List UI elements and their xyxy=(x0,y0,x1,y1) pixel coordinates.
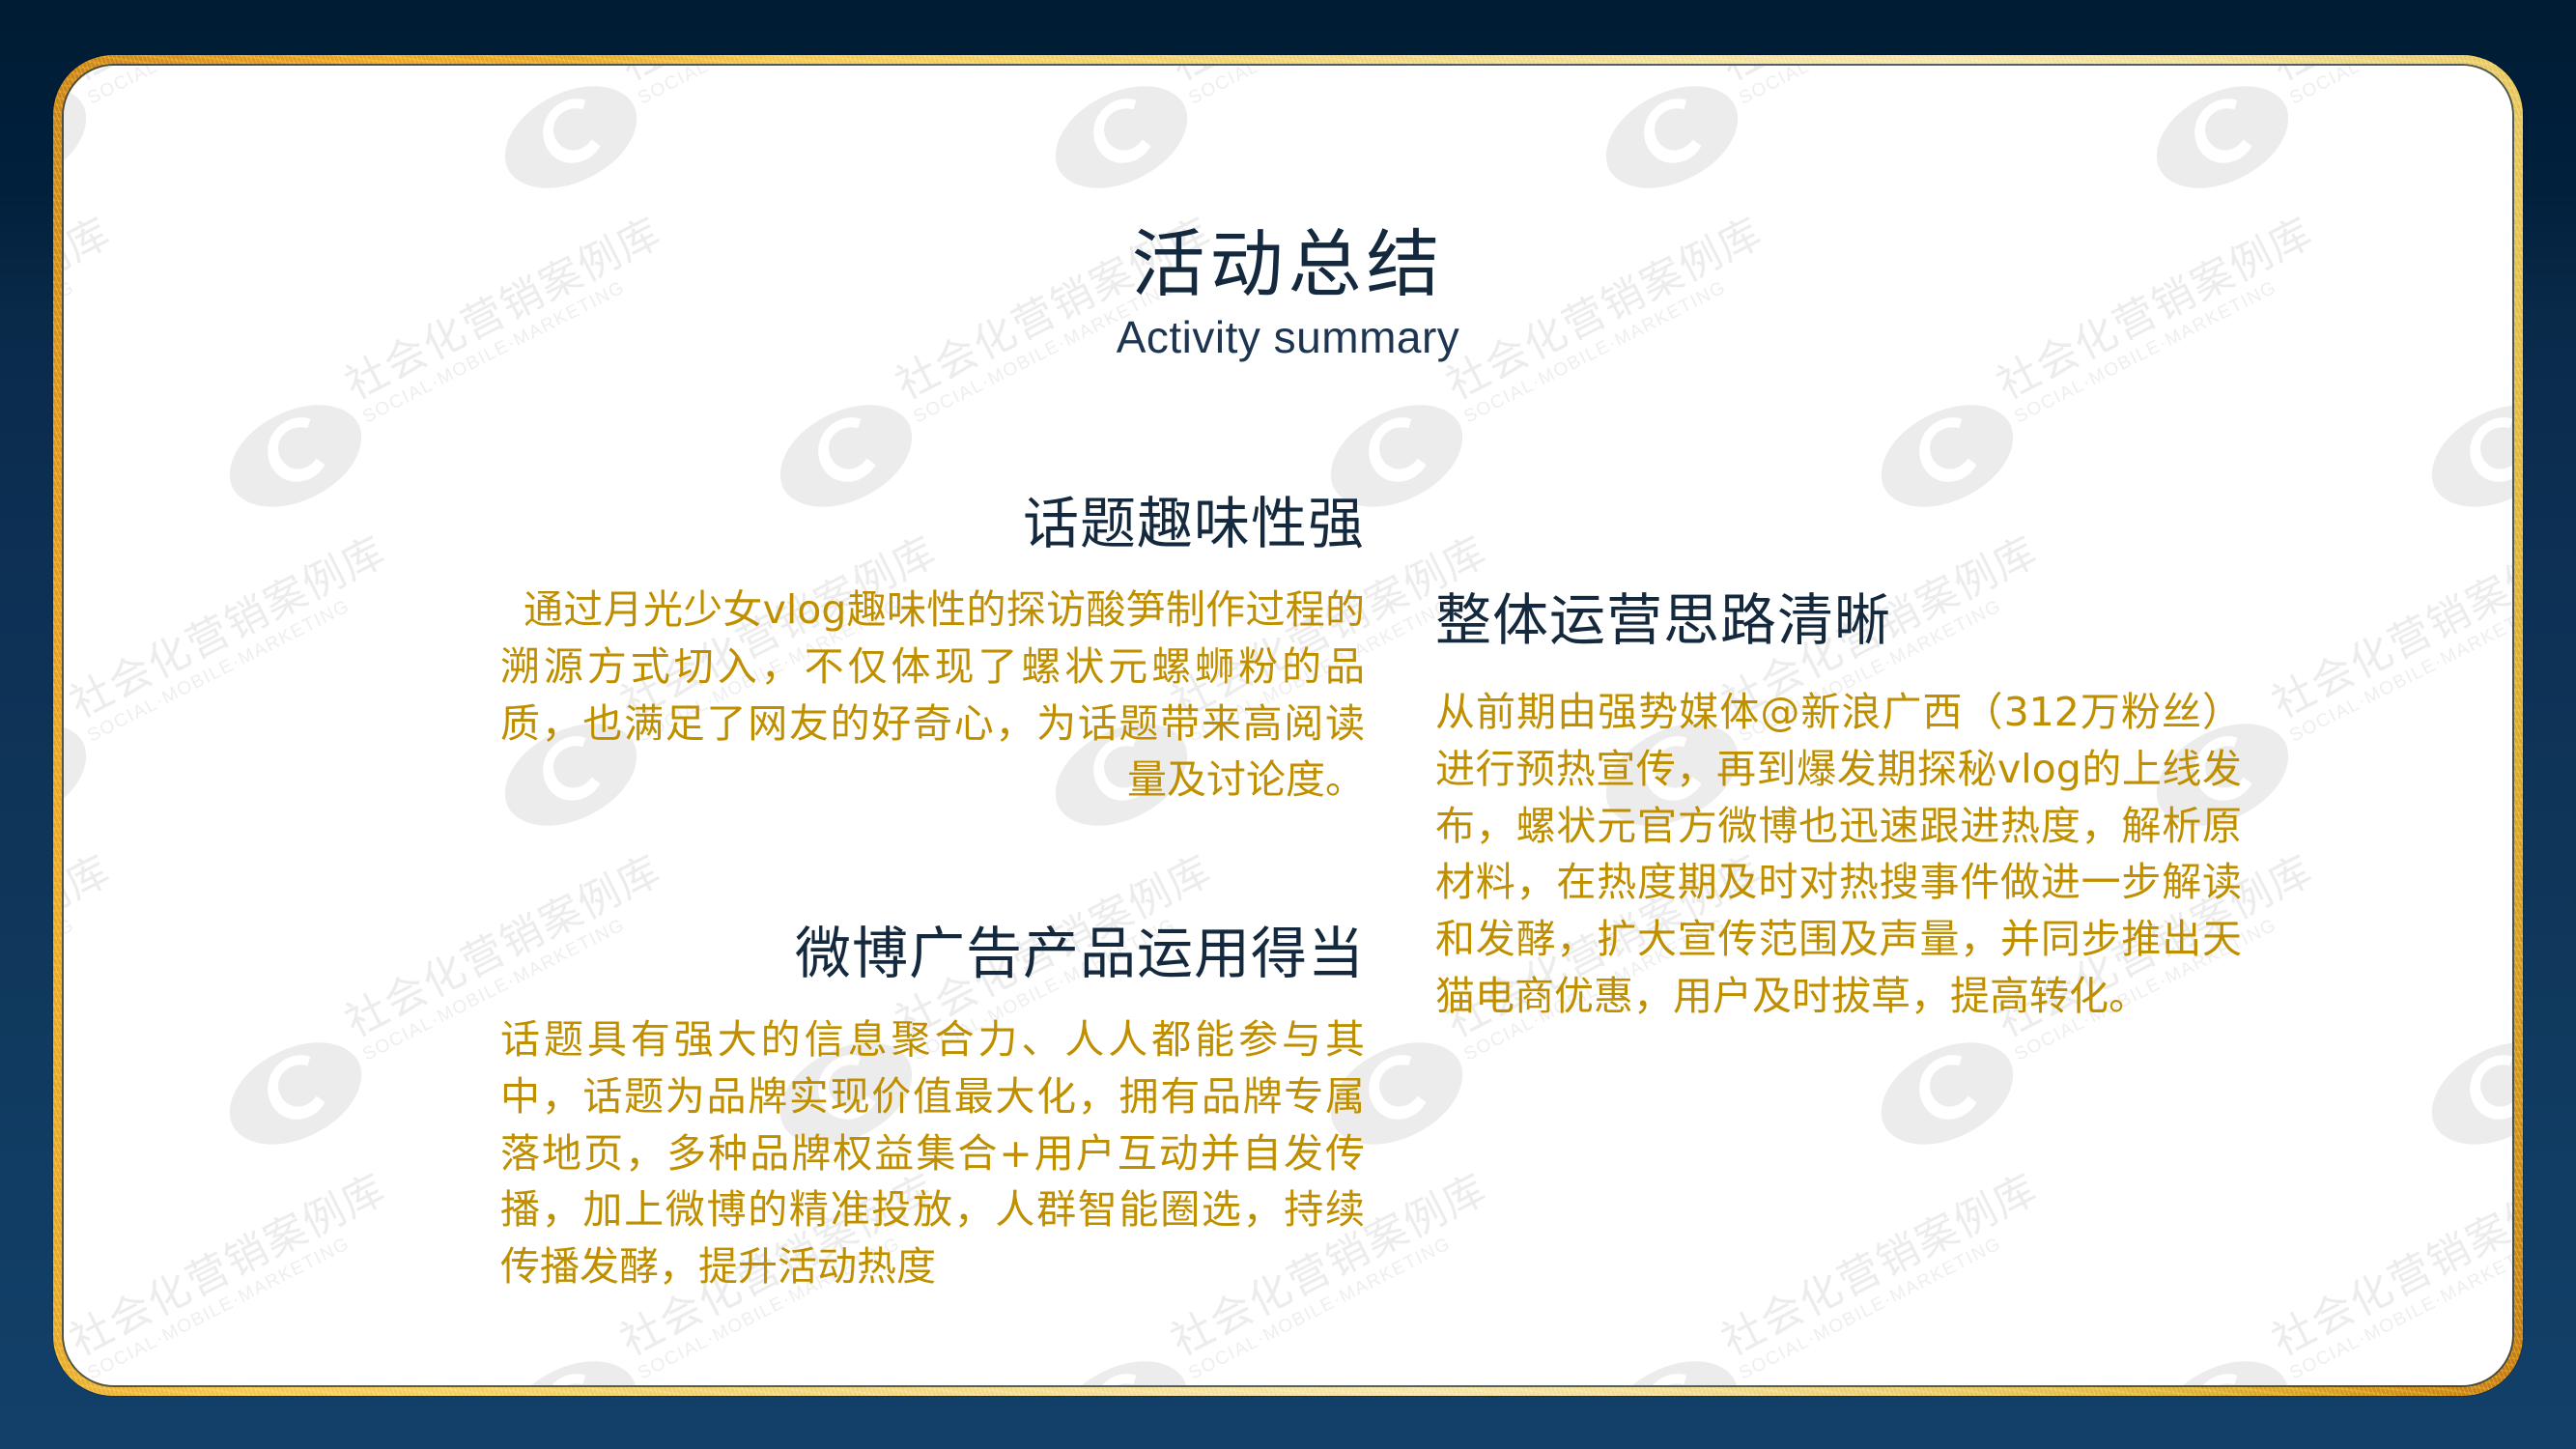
left-block-2-heading: 微博广告产品运用得当 xyxy=(500,921,1365,986)
right-block-1: 整体运营思路清晰 从前期由强势媒体@新浪广西（312万粉丝）进行预热宣传，再到爆… xyxy=(1435,587,2242,1024)
right-column: 整体运营思路清晰 从前期由强势媒体@新浪广西（312万粉丝）进行预热宣传，再到爆… xyxy=(1435,587,2242,1024)
left-block-2: 微博广告产品运用得当 话题具有强大的信息聚合力、人人都能参与其中，话题为品牌实现… xyxy=(500,921,1365,1295)
page-subtitle: Activity summary xyxy=(64,313,2512,362)
right-block-1-body: 从前期由强势媒体@新浪广西（312万粉丝）进行预热宣传，再到爆发期探秘vlog的… xyxy=(1435,684,2242,1024)
slide-content: 活动总结 Activity summary 话题趣味性强 通过月光少女vlog趣… xyxy=(64,66,2512,1385)
left-block-2-body: 话题具有强大的信息聚合力、人人都能参与其中，话题为品牌实现价值最大化，拥有品牌专… xyxy=(500,1011,1365,1294)
page-title: 活动总结 xyxy=(64,228,2512,301)
title-block: 活动总结 Activity summary xyxy=(64,228,2512,362)
content-card: 社会化营销案例库SOCIAL·MOBILE·MARKETING社会化营销案例库S… xyxy=(64,66,2512,1385)
slide-root: 社会化营销案例库SOCIAL·MOBILE·MARKETING社会化营销案例库S… xyxy=(0,0,2576,1449)
gold-frame: 社会化营销案例库SOCIAL·MOBILE·MARKETING社会化营销案例库S… xyxy=(53,55,2523,1396)
left-column: 话题趣味性强 通过月光少女vlog趣味性的探访酸笋制作过程的溯源方式切入，不仅体… xyxy=(500,491,1365,1295)
left-block-1-body: 通过月光少女vlog趣味性的探访酸笋制作过程的溯源方式切入，不仅体现了螺状元螺蛳… xyxy=(500,582,1365,809)
left-block-1: 话题趣味性强 通过月光少女vlog趣味性的探访酸笋制作过程的溯源方式切入，不仅体… xyxy=(500,491,1365,809)
left-block-1-heading: 话题趣味性强 xyxy=(500,491,1365,556)
right-block-1-heading: 整体运营思路清晰 xyxy=(1435,587,2242,653)
